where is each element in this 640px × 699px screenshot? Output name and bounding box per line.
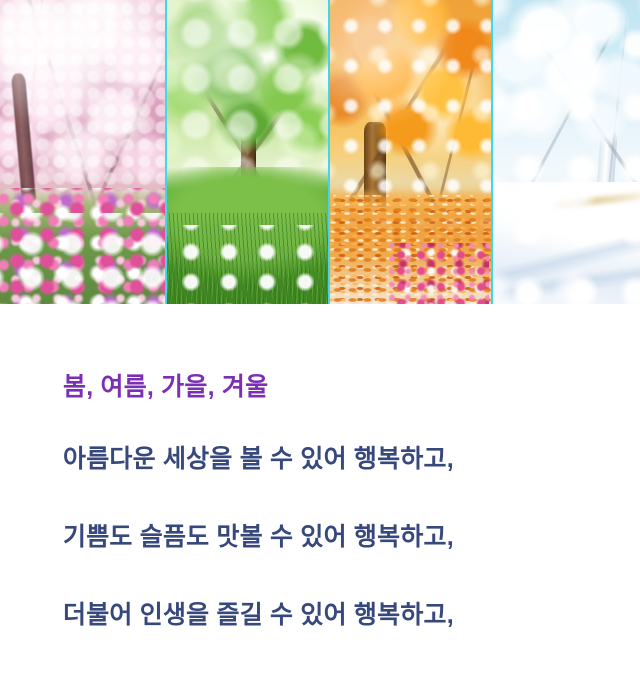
season-panel-spring: [0, 0, 165, 304]
summer-light-glow: [167, 0, 328, 304]
four-seasons-banner: [0, 0, 640, 304]
poem-line-2: 기쁨도 슬픔도 맛볼 수 있어 행복하고,: [0, 472, 640, 550]
poem-line-3: 더불어 인생을 즐길 수 있어 행복하고,: [0, 550, 640, 628]
season-panel-summer: [167, 0, 328, 304]
poem-heading: 봄, 여름, 가을, 겨울: [0, 304, 640, 400]
season-panel-autumn: [330, 0, 491, 304]
winter-falling-snowflakes: [493, 0, 640, 304]
poem-line-1: 아름다운 세상을 볼 수 있어 행복하고,: [0, 400, 640, 472]
poem-text-block: 봄, 여름, 가을, 겨울 아름다운 세상을 볼 수 있어 행복하고, 기쁨도 …: [0, 304, 640, 628]
season-panel-winter: [493, 0, 640, 304]
autumn-light-glow: [330, 0, 491, 304]
spring-light-glow: [0, 0, 165, 304]
